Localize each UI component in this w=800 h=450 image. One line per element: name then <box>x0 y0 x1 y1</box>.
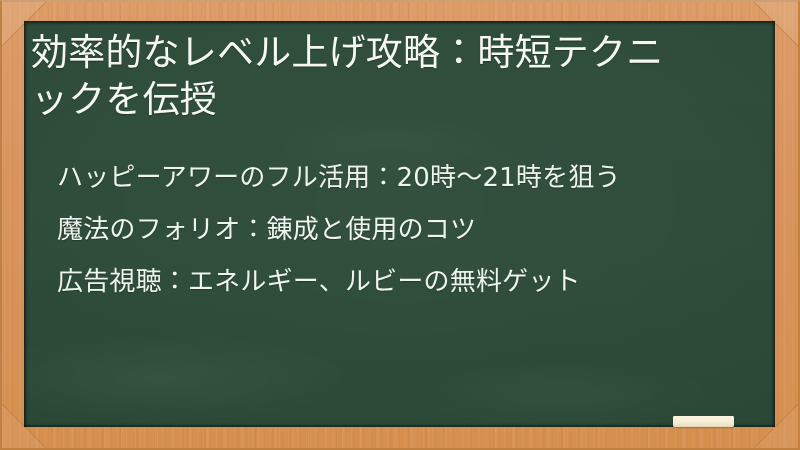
chalk-stick <box>673 416 734 427</box>
chalkboard-surface: 効率的なレベル上げ攻略：時短テクニックを伝授 ハッピーアワーのフル活用：20時〜… <box>24 21 775 427</box>
list-item: ハッピーアワーのフル活用：20時〜21時を狙う <box>57 152 757 204</box>
board-content: 効率的なレベル上げ攻略：時短テクニックを伝授 ハッピーアワーのフル活用：20時〜… <box>24 21 775 427</box>
list-item: 広告視聴：エネルギー、ルビーの無料ゲット <box>57 256 757 308</box>
list-item: 魔法のフォリオ：錬成と使用のコツ <box>57 204 757 256</box>
topic-list: ハッピーアワーのフル活用：20時〜21時を狙う 魔法のフォリオ：錬成と使用のコツ… <box>57 152 757 308</box>
chalkboard-slide: 効率的なレベル上げ攻略：時短テクニックを伝授 ハッピーアワーのフル活用：20時〜… <box>0 0 800 450</box>
slide-title-line-2: ックを伝授 <box>31 78 217 121</box>
slide-title-line-1: 効率的なレベル上げ攻略：時短テクニ <box>31 31 663 74</box>
slide-title: 効率的なレベル上げ攻略：時短テクニックを伝授 <box>31 29 757 123</box>
